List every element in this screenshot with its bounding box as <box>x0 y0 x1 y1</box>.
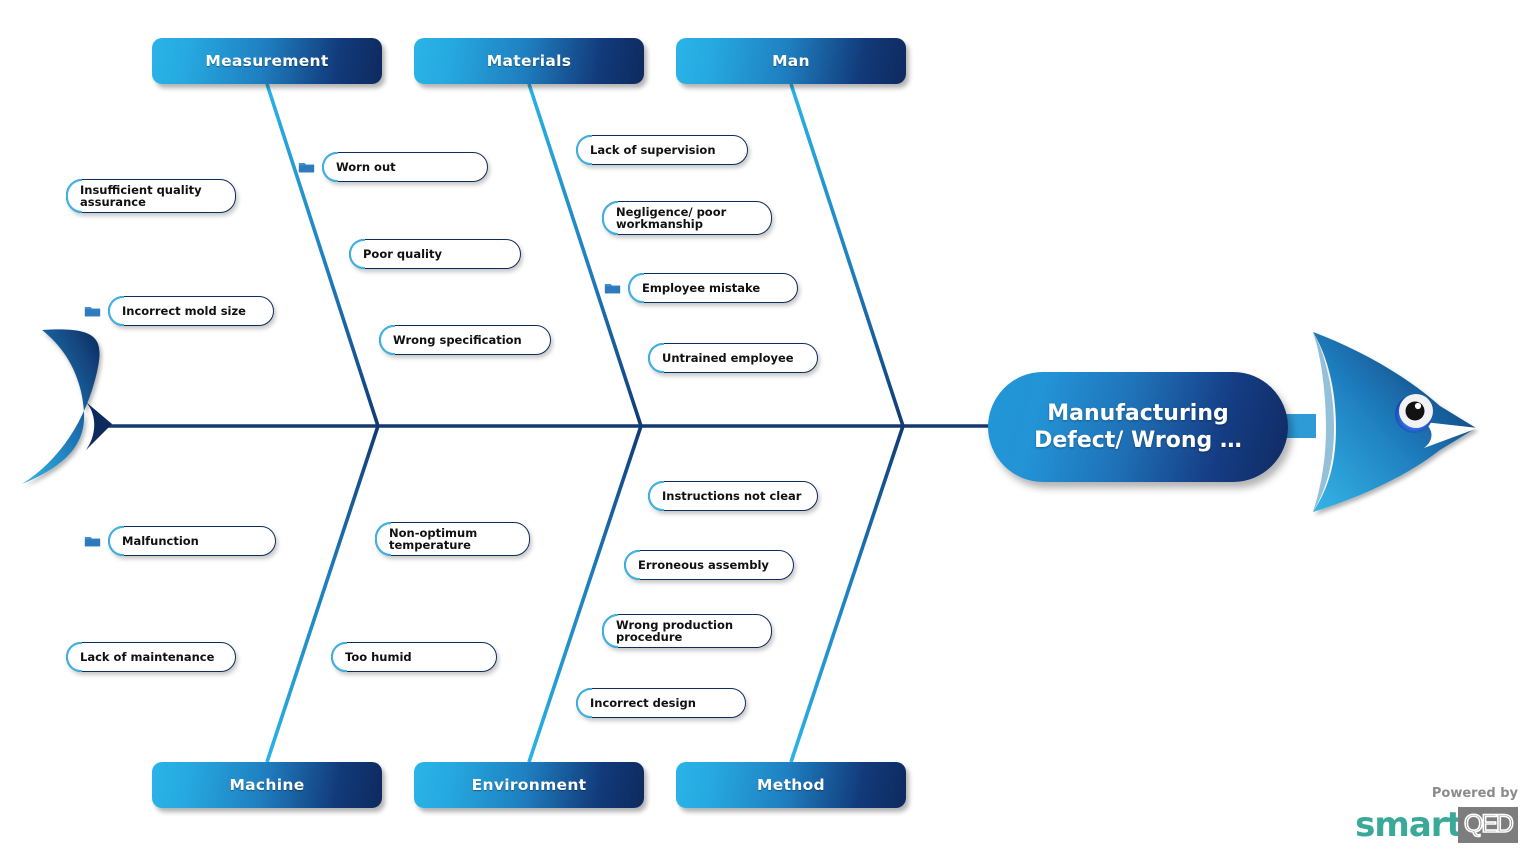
fishbone-skeleton <box>0 0 1536 853</box>
cause-box[interactable]: Employee mistake <box>628 273 798 303</box>
category-header-machine[interactable]: Machine <box>152 762 382 808</box>
cause-label: Instructions not clear <box>662 490 801 503</box>
cause-label: Non-optimum temperature <box>389 527 477 552</box>
category-header-environment[interactable]: Environment <box>414 762 644 808</box>
smartqed-logo[interactable]: smart QED <box>1355 807 1518 843</box>
category-header-measurement[interactable]: Measurement <box>152 38 382 84</box>
bone-method <box>791 426 903 762</box>
cause-item-negligence-poor-workmanship[interactable]: Negligence/ poor workmanship <box>602 203 772 233</box>
cause-box[interactable]: Instructions not clear <box>648 481 818 511</box>
cause-item-too-humid[interactable]: Too humid <box>331 642 497 672</box>
cause-box[interactable]: Incorrect design <box>576 688 746 718</box>
cause-item-employee-mistake[interactable]: Employee mistake <box>604 273 798 303</box>
cause-box[interactable]: Wrong production procedure <box>602 614 772 648</box>
category-header-materials[interactable]: Materials <box>414 38 644 84</box>
target-head-connector <box>1286 414 1316 438</box>
cause-label: Too humid <box>345 651 412 664</box>
cause-label: Negligence/ poor workmanship <box>616 206 726 231</box>
powered-by-block: Powered by smart QED <box>1355 786 1518 843</box>
fish-tail-notch <box>86 402 112 450</box>
cause-item-incorrect-mold-size[interactable]: Incorrect mold size <box>84 296 274 326</box>
cause-item-wrong-production-procedure[interactable]: Wrong production procedure <box>602 616 772 646</box>
cause-item-wrong-specification[interactable]: Wrong specification <box>379 325 551 355</box>
cause-item-non-optimum-temperature[interactable]: Non-optimum temperature <box>375 524 530 554</box>
category-label-machine: Machine <box>229 776 304 794</box>
category-label-man: Man <box>772 52 810 70</box>
cause-box[interactable]: Negligence/ poor workmanship <box>602 201 772 235</box>
fish-tail <box>22 329 100 484</box>
cause-item-lack-of-maintenance[interactable]: Lack of maintenance <box>66 642 236 672</box>
cause-box[interactable]: Malfunction <box>108 526 276 556</box>
category-label-measurement: Measurement <box>205 52 328 70</box>
cause-item-lack-of-supervision[interactable]: Lack of supervision <box>576 135 748 165</box>
cause-box[interactable]: Worn out <box>322 152 488 182</box>
category-header-man[interactable]: Man <box>676 38 906 84</box>
cause-box[interactable]: Untrained employee <box>648 343 818 373</box>
cause-label: Worn out <box>336 161 396 174</box>
cause-box[interactable]: Wrong specification <box>379 325 551 355</box>
cause-label: Wrong production procedure <box>616 619 733 644</box>
cause-box[interactable]: Lack of supervision <box>576 135 748 165</box>
cause-item-malfunction[interactable]: Malfunction <box>84 526 276 556</box>
cause-label: Malfunction <box>122 535 199 548</box>
bone-man <box>791 84 903 426</box>
logo-qed-badge: QED <box>1458 807 1518 843</box>
cause-label: Poor quality <box>363 248 442 261</box>
logo-smart-text: smart <box>1355 808 1462 842</box>
category-label-method: Method <box>757 776 825 794</box>
fish-eye-highlight <box>1415 403 1421 409</box>
folder-icon <box>84 535 101 548</box>
folder-icon <box>604 282 621 295</box>
fish-eye-pupil <box>1406 402 1425 421</box>
category-label-environment: Environment <box>472 776 587 794</box>
powered-by-text: Powered by <box>1355 786 1518 801</box>
fish-head <box>1313 332 1476 512</box>
category-label-materials: Materials <box>487 52 571 70</box>
cause-box[interactable]: Insufficient quality assurance <box>66 179 236 213</box>
cause-item-untrained-employee[interactable]: Untrained employee <box>648 343 818 373</box>
cause-label: Lack of maintenance <box>80 651 214 664</box>
cause-box[interactable]: Non-optimum temperature <box>375 522 530 556</box>
cause-item-insufficient-quality-assurance[interactable]: Insufficient quality assurance <box>66 181 236 211</box>
folder-icon <box>84 305 101 318</box>
cause-label: Wrong specification <box>393 334 522 347</box>
cause-label: Incorrect mold size <box>122 305 246 318</box>
target-problem-box[interactable]: Manufacturing Defect/ Wrong … <box>988 372 1288 482</box>
cause-label: Lack of supervision <box>590 144 716 157</box>
cause-item-erroneous-assembly[interactable]: Erroneous assembly <box>624 550 794 580</box>
cause-item-incorrect-design[interactable]: Incorrect design <box>576 688 746 718</box>
cause-label: Employee mistake <box>642 282 760 295</box>
cause-box[interactable]: Incorrect mold size <box>108 296 274 326</box>
cause-item-instructions-not-clear[interactable]: Instructions not clear <box>648 481 818 511</box>
cause-label: Insufficient quality assurance <box>80 184 202 209</box>
logo-qed-text: QED <box>1464 812 1512 837</box>
cause-label: Erroneous assembly <box>638 559 769 572</box>
cause-item-poor-quality[interactable]: Poor quality <box>349 239 521 269</box>
cause-box[interactable]: Too humid <box>331 642 497 672</box>
cause-box[interactable]: Lack of maintenance <box>66 642 236 672</box>
bone-machine <box>267 426 378 762</box>
cause-label: Incorrect design <box>590 697 696 710</box>
cause-box[interactable]: Poor quality <box>349 239 521 269</box>
folder-icon <box>298 161 315 174</box>
cause-label: Untrained employee <box>662 352 794 365</box>
target-problem-label: Manufacturing Defect/ Wrong … <box>1034 400 1242 454</box>
category-header-method[interactable]: Method <box>676 762 906 808</box>
cause-item-worn-out[interactable]: Worn out <box>298 152 488 182</box>
cause-box[interactable]: Erroneous assembly <box>624 550 794 580</box>
fishbone-diagram-canvas: Measurement Materials Man Machine Enviro… <box>0 0 1536 853</box>
